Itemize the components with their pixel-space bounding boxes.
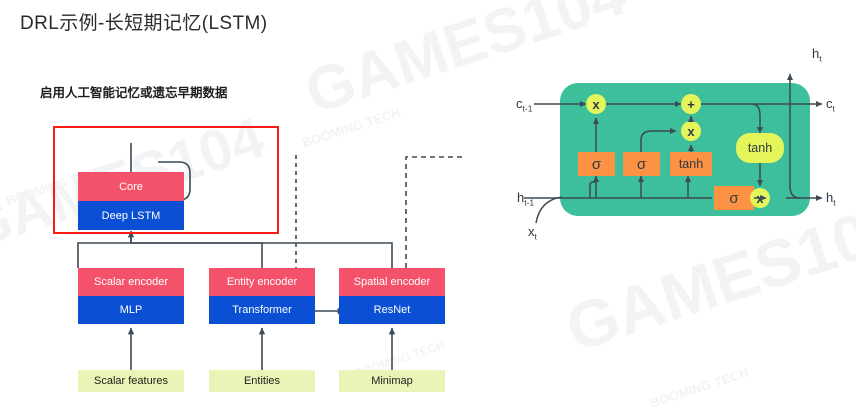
label-x-input: xt (528, 224, 537, 242)
slide-canvas: GAMES104GAMES104GAMES104BOOMING TECHBOOM… (0, 0, 856, 420)
label-c-out-sub: t (833, 104, 835, 114)
label-h-out-top-sub: t (819, 54, 821, 64)
label-x-input-sub: t (535, 232, 537, 242)
label-h-out-top: ht (812, 46, 822, 64)
label-c-prev-sub: t-1 (523, 104, 533, 114)
label-h-prev-sub: t-1 (524, 198, 534, 208)
label-h-prev: ht-1 (517, 190, 534, 208)
lstm-cell-wires (0, 0, 856, 420)
label-h-out-right: ht (826, 190, 836, 208)
label-h-out-right-sub: t (833, 198, 835, 208)
label-c-out: ct (826, 96, 835, 114)
label-c-prev: ct-1 (516, 96, 532, 114)
